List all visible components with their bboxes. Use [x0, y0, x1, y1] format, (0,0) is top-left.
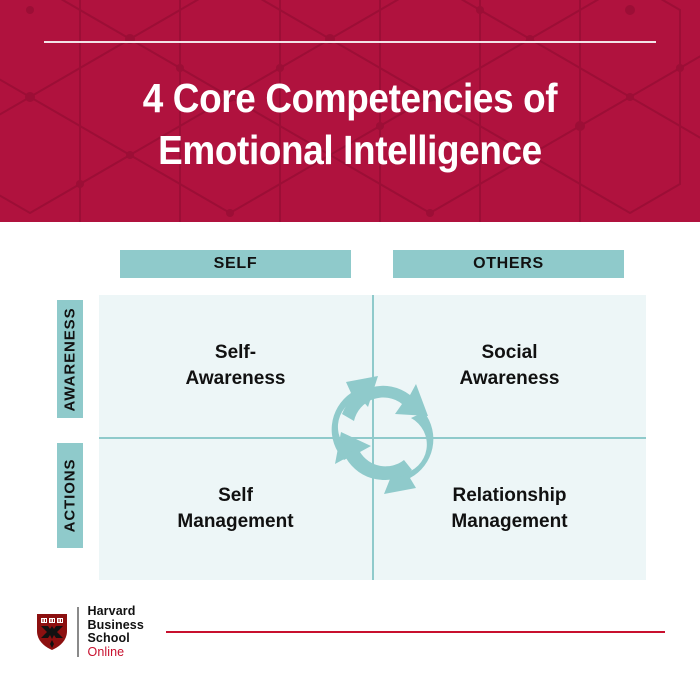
page-title-line-2: Emotional Intelligence	[35, 124, 665, 176]
header-banner: 4 Core Competencies of Emotional Intelli…	[0, 0, 700, 222]
column-header-self-label: SELF	[214, 255, 258, 273]
infographic-page: 4 Core Competencies of Emotional Intelli…	[0, 0, 700, 700]
quadrant-social-awareness-line-2: Awareness	[460, 366, 560, 392]
footer-divider-rule	[166, 631, 665, 633]
quadrant-self-management-line-1: Self	[177, 483, 293, 509]
column-header-others: OTHERS	[393, 250, 624, 278]
logo-word-business: Business	[88, 619, 144, 633]
row-header-awareness-label: AWARENESS	[62, 307, 79, 411]
harvard-shield-icon	[36, 613, 68, 651]
row-header-actions-label: ACTIONS	[62, 459, 79, 533]
quadrant-relationship-management-line-1: Relationship	[451, 483, 567, 509]
hbs-online-logo: Harvard Business School Online	[36, 605, 144, 659]
logo-wordmark: Harvard Business School Online	[88, 605, 144, 659]
logo-word-school: School	[88, 632, 144, 646]
quadrant-self-management-line-2: Management	[177, 509, 293, 535]
quadrant-social-awareness-line-1: Social	[460, 340, 560, 366]
logo-word-harvard: Harvard	[88, 605, 144, 619]
logo-divider	[77, 607, 79, 657]
cycle-arrows-icon	[324, 366, 444, 506]
quadrant-self-awareness-line-2: Awareness	[186, 366, 286, 392]
logo-word-online: Online	[88, 646, 144, 660]
header-divider-rule	[44, 41, 656, 43]
row-header-actions: ACTIONS	[57, 443, 83, 548]
page-title: 4 Core Competencies of Emotional Intelli…	[35, 72, 665, 176]
column-header-self: SELF	[120, 250, 351, 278]
column-header-others-label: OTHERS	[473, 255, 544, 273]
page-title-line-1: 4 Core Competencies of	[35, 72, 665, 124]
row-header-awareness: AWARENESS	[57, 300, 83, 418]
quadrant-self-awareness-line-1: Self-	[186, 340, 286, 366]
quadrant-relationship-management-line-2: Management	[451, 509, 567, 535]
